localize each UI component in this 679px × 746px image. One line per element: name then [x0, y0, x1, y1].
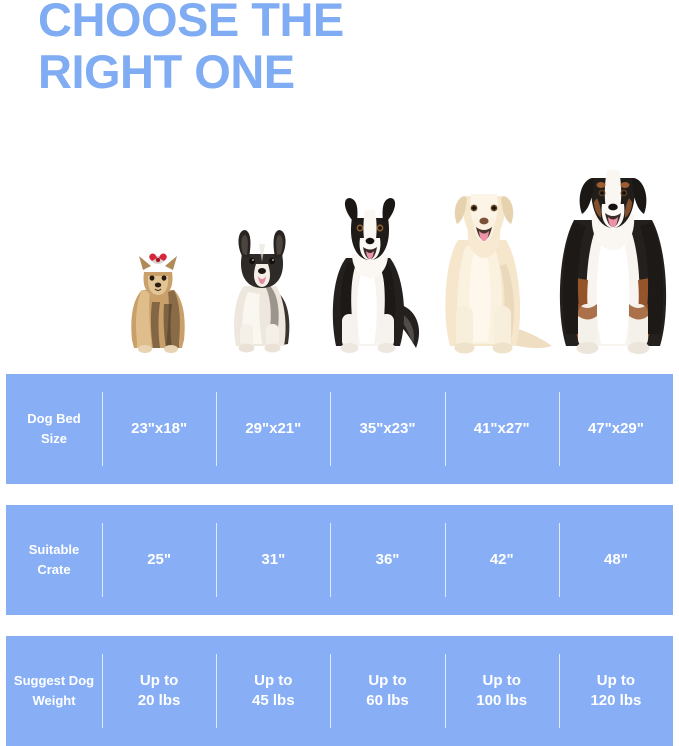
cell-suitable-crate-4: 42" [445, 505, 559, 615]
cell-value-line-1: Up to [476, 671, 527, 691]
row-header-line-2: Size [27, 429, 80, 449]
table-row-dog-bed-size: Dog Bed Size 23"x18" 29"x21" 35"x23" [6, 374, 673, 484]
cell-value-line-1: 47"x29" [588, 419, 644, 439]
labrador-retriever-icon [424, 174, 556, 356]
cell-dog-bed-size-3: 35"x23" [330, 374, 444, 484]
cell-suggest-dog-weight-3: Up to 60 lbs [330, 636, 444, 746]
cell-value-line-2: 20 lbs [138, 691, 181, 711]
row-header-line-1: Dog Bed [27, 409, 80, 429]
dog-yorkshire-terrier [112, 248, 204, 356]
cell-suitable-crate-1: 25" [102, 505, 216, 615]
cell-value-line-2: 60 lbs [366, 691, 409, 711]
row-header-line-2: Weight [14, 691, 94, 711]
cell-suggest-dog-weight-5: Up to 120 lbs [559, 636, 673, 746]
dog-border-collie [312, 196, 430, 356]
cell-value-line-1: 31" [261, 550, 285, 570]
cell-dog-bed-size-1: 23"x18" [102, 374, 216, 484]
cell-value-line-1: 41"x27" [474, 419, 530, 439]
page-title-line-1: CHOOSE THE [38, 0, 638, 46]
cell-dog-bed-size-5: 47"x29" [559, 374, 673, 484]
dog-illustration-row [0, 150, 679, 356]
cell-suitable-crate-5: 48" [559, 505, 673, 615]
dog-french-bulldog [218, 228, 306, 356]
row-header-dog-bed-size: Dog Bed Size [6, 374, 102, 484]
border-collie-icon [312, 196, 430, 356]
row-header-suggest-dog-weight: Suggest Dog Weight [6, 636, 102, 746]
cell-value-line-1: Up to [252, 671, 295, 691]
cell-value-line-2: 45 lbs [252, 691, 295, 711]
table-row-suitable-crate: Suitable Crate 25" 31" 36" [6, 505, 673, 615]
bernese-mountain-dog-icon [548, 158, 678, 356]
cell-value-line-1: 25" [147, 550, 171, 570]
dog-bernese-mountain-dog [548, 158, 678, 356]
cell-value-line-1: 35"x23" [360, 419, 416, 439]
cell-value-line-1: Up to [590, 671, 641, 691]
table-row-suggest-dog-weight: Suggest Dog Weight Up to 20 lbs Up to 45… [6, 636, 673, 746]
cell-dog-bed-size-2: 29"x21" [216, 374, 330, 484]
cell-value-line-2: 100 lbs [476, 691, 527, 711]
french-bulldog-icon [218, 228, 306, 356]
row-header-line-1: Suggest Dog [14, 671, 94, 691]
dog-labrador-retriever [424, 174, 556, 356]
cell-value-line-1: 36" [376, 550, 400, 570]
cell-value-line-2: 120 lbs [590, 691, 641, 711]
row-header-line-1: Suitable [29, 540, 80, 560]
cell-value-line-1: 23"x18" [131, 419, 187, 439]
row-header-suitable-crate: Suitable Crate [6, 505, 102, 615]
cell-suggest-dog-weight-2: Up to 45 lbs [216, 636, 330, 746]
cell-suggest-dog-weight-1: Up to 20 lbs [102, 636, 216, 746]
cell-value-line-1: 29"x21" [245, 419, 301, 439]
cell-suitable-crate-2: 31" [216, 505, 330, 615]
yorkshire-terrier-icon [112, 248, 204, 356]
row-header-line-2: Crate [29, 560, 80, 580]
size-chart-page: CHOOSE THE RIGHT ONE [0, 0, 679, 746]
page-title-line-2: RIGHT ONE [38, 46, 638, 98]
cell-dog-bed-size-4: 41"x27" [445, 374, 559, 484]
cell-value-line-1: Up to [366, 671, 409, 691]
size-comparison-table: Dog Bed Size 23"x18" 29"x21" 35"x23" [6, 374, 673, 746]
page-title: CHOOSE THE RIGHT ONE [38, 0, 638, 98]
cell-suggest-dog-weight-4: Up to 100 lbs [445, 636, 559, 746]
cell-value-line-1: Up to [138, 671, 181, 691]
cell-suitable-crate-3: 36" [330, 505, 444, 615]
cell-value-line-1: 48" [604, 550, 628, 570]
cell-value-line-1: 42" [490, 550, 514, 570]
